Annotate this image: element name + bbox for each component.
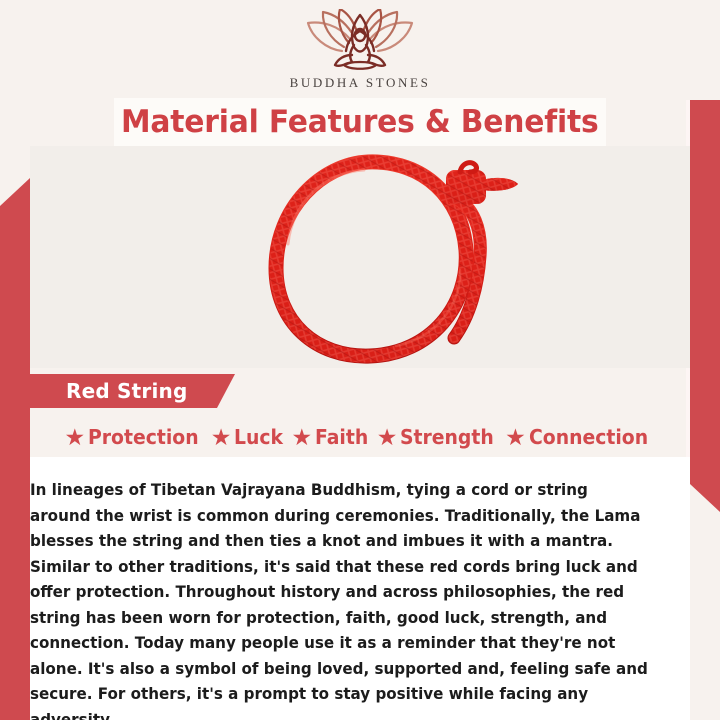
feature-label: Luck — [234, 425, 283, 449]
star-icon: ★ — [505, 426, 526, 449]
brand-logo: BUDDHA STONES — [290, 9, 431, 91]
product-image-area — [30, 146, 690, 368]
feature-item: ★ Luck — [211, 425, 287, 449]
star-icon: ★ — [211, 426, 232, 449]
decor-band-left — [0, 178, 30, 720]
feature-label: Connection — [529, 425, 648, 449]
title-banner: Material Features & Benefits — [114, 98, 606, 146]
star-icon: ★ — [292, 426, 313, 449]
description-text: In lineages of Tibetan Vajrayana Buddhis… — [30, 477, 649, 720]
feature-label: Strength — [400, 425, 494, 449]
description-block: In lineages of Tibetan Vajrayana Buddhis… — [30, 457, 690, 720]
lotus-meditation-icon — [302, 9, 418, 71]
product-label: Red String — [66, 379, 187, 403]
brand-name: BUDDHA STONES — [290, 75, 431, 91]
feature-label: Protection — [88, 425, 199, 449]
red-string-bracelet-image — [30, 146, 690, 368]
features-row: ★ Protection ★ Luck ★ Faith ★ Strength ★… — [30, 420, 690, 454]
feature-item: ★ Connection — [505, 425, 655, 449]
decor-band-right — [690, 28, 720, 512]
feature-label: Faith — [315, 425, 368, 449]
brand-header: BUDDHA STONES — [0, 0, 720, 100]
page-title: Material Features & Benefits — [121, 104, 599, 140]
infographic-page: BUDDHA STONES Material Features & Benefi… — [0, 0, 720, 720]
feature-item: ★ Protection — [64, 425, 205, 449]
product-label-banner: Red String — [30, 374, 235, 408]
star-icon: ★ — [64, 426, 85, 449]
feature-item: ★ Faith — [292, 425, 372, 449]
feature-item: ★ Strength — [377, 425, 500, 449]
star-icon: ★ — [377, 426, 398, 449]
